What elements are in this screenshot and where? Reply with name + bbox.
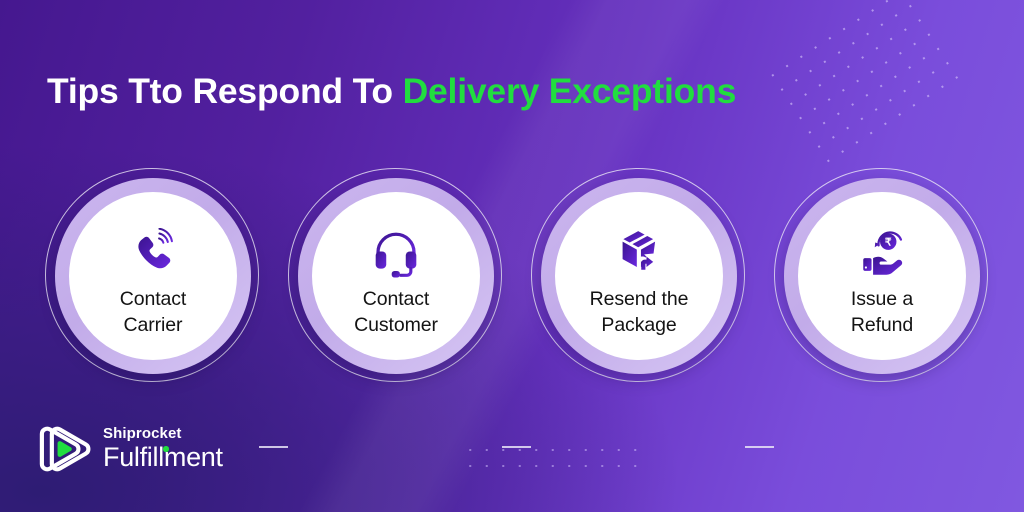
logo-line-fulfillment: Fulfillment <box>103 443 223 471</box>
step-connector-3 <box>745 446 774 448</box>
phone-call-icon <box>127 228 179 278</box>
step-connector-1 <box>259 446 288 448</box>
page-title-plain: Tips Tto Respond To <box>47 71 403 111</box>
refund-hand-icon: ₹ <box>856 228 908 278</box>
shiprocket-fulfillment-logo[interactable]: Shiprocket Fulfillment <box>34 420 223 478</box>
step-label: Resend the Package <box>590 287 689 339</box>
logo-wordmark: Shiprocket Fulfillment <box>103 426 223 471</box>
decorative-dot-grid-top-right <box>761 0 963 167</box>
shiprocket-play-triangle-logo-icon <box>34 420 92 478</box>
step-face: Resend the Package <box>555 192 723 360</box>
logo-accent-dot <box>163 446 169 452</box>
package-resend-icon <box>613 228 665 278</box>
step-label: Contact Carrier <box>120 287 187 339</box>
step-face: Contact Customer <box>312 192 480 360</box>
step-card-contact-carrier[interactable]: Contact Carrier <box>45 168 261 384</box>
step-label: Issue a Refund <box>851 287 913 339</box>
page-title-accent: Delivery Exceptions <box>403 71 737 111</box>
step-card-contact-customer[interactable]: Contact Customer <box>288 168 504 384</box>
step-connector-2 <box>502 446 531 448</box>
step-face: Contact Carrier <box>69 192 237 360</box>
infographic-canvas: Tips Tto Respond To Delivery Exceptions <box>0 0 1024 512</box>
step-face: ₹ Issue a Refund <box>798 192 966 360</box>
step-card-issue-refund[interactable]: ₹ Issue a Refund <box>774 168 990 384</box>
steps-row: Contact Carrier <box>0 168 1024 384</box>
step-label: Contact Customer <box>354 287 438 339</box>
page-title: Tips Tto Respond To Delivery Exceptions <box>47 74 736 110</box>
step-card-resend-package[interactable]: Resend the Package <box>531 168 747 384</box>
headset-icon <box>370 228 422 278</box>
decorative-dot-grid-bottom <box>462 442 646 468</box>
logo-line-shiprocket: Shiprocket <box>103 426 223 442</box>
svg-text:₹: ₹ <box>885 237 892 249</box>
